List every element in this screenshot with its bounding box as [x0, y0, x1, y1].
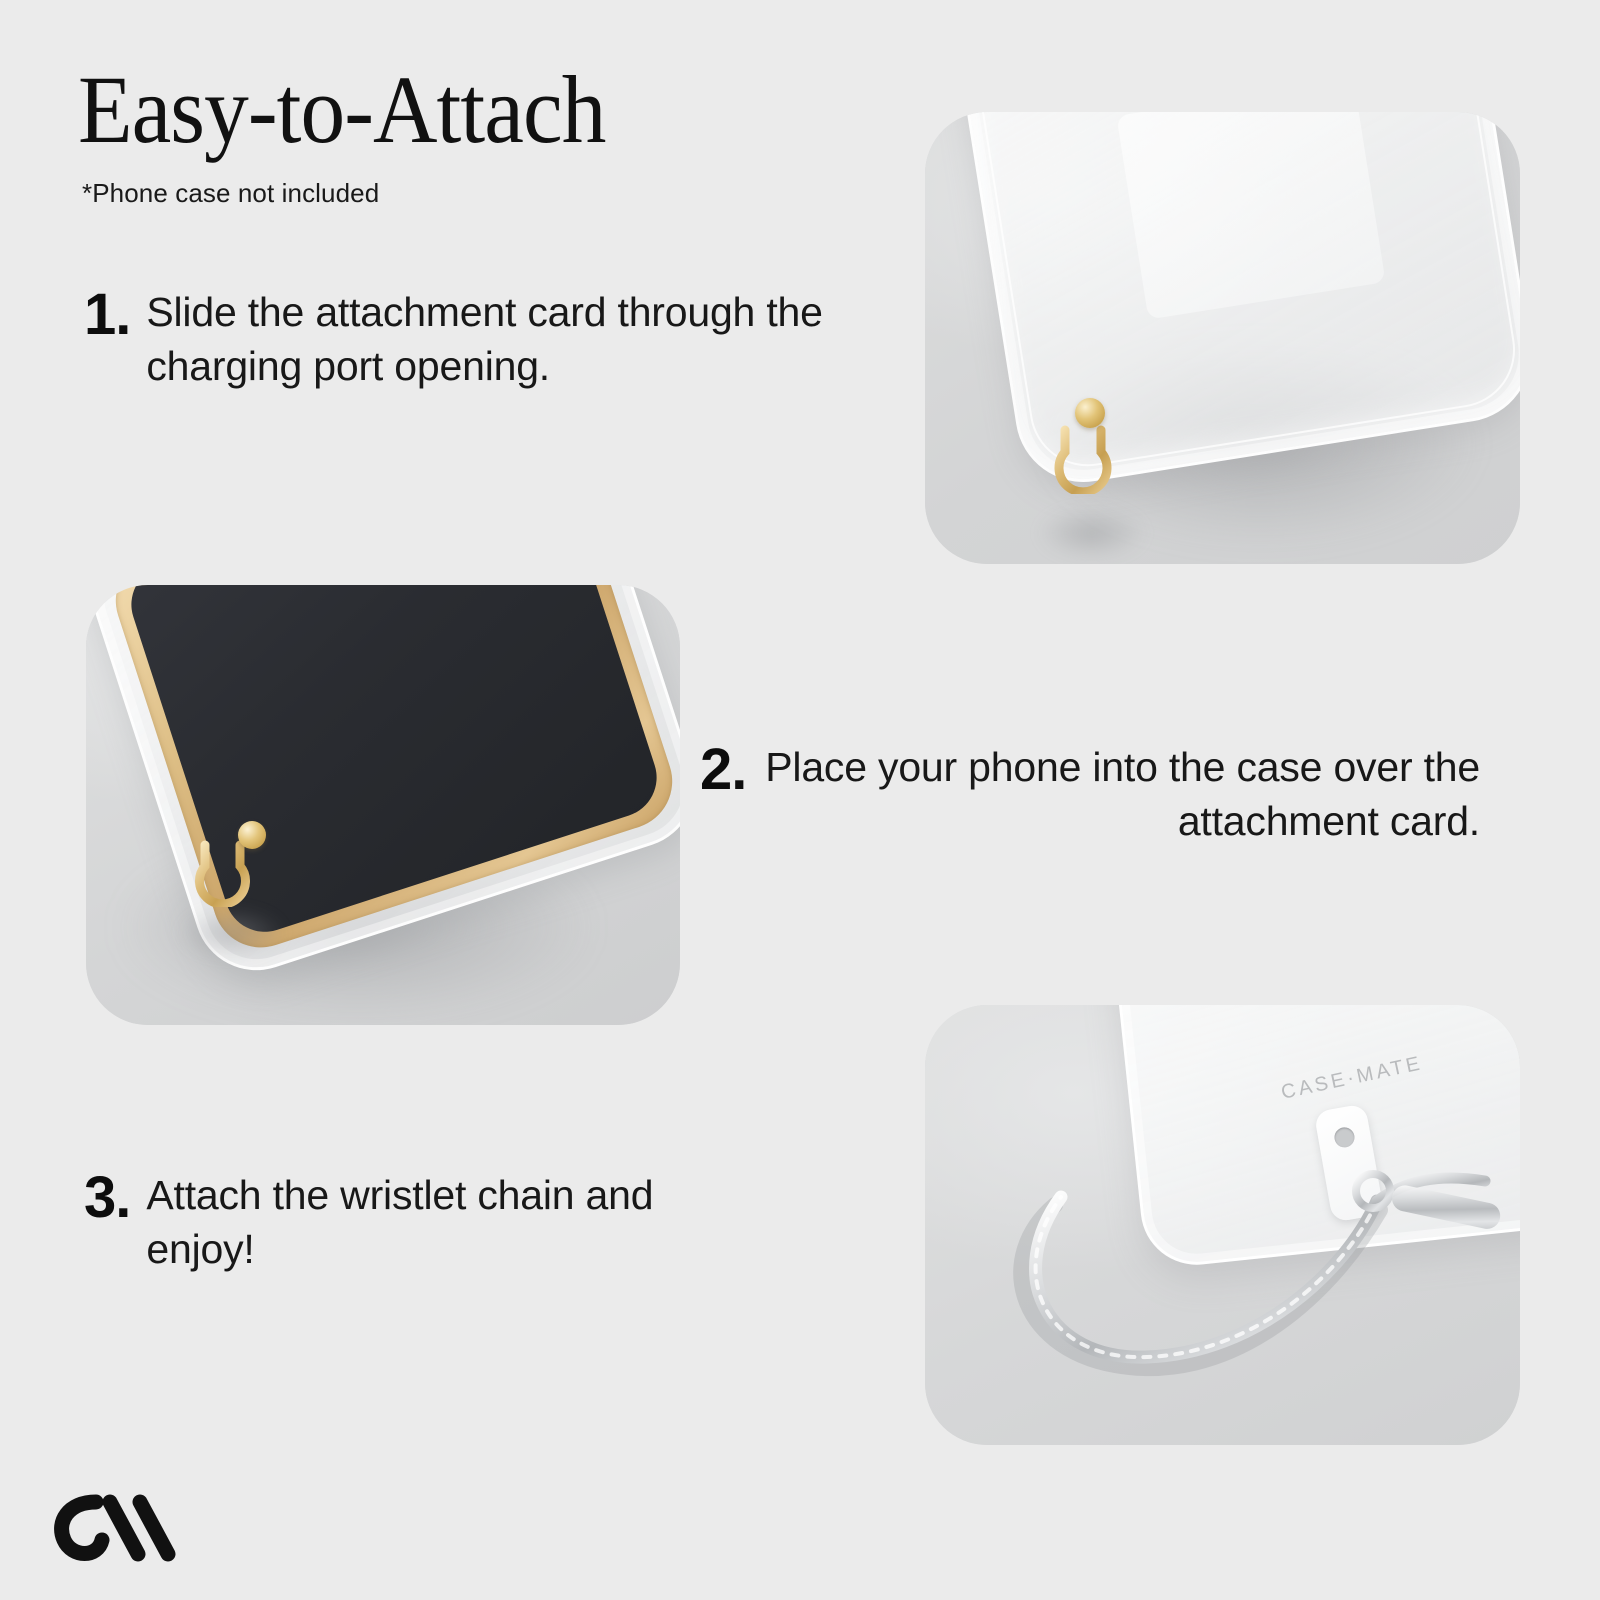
- step-number-3: 3.: [84, 1170, 130, 1225]
- disclaimer-note: *Phone case not included: [82, 178, 379, 209]
- step-text-1: Slide the attachment card through the ch…: [146, 285, 914, 393]
- case-mate-logo: [46, 1468, 186, 1576]
- ring-shadow-2: [178, 907, 286, 959]
- step-text-3: Attach the wristlet chain and enjoy!: [146, 1168, 764, 1276]
- step-text-2: Place your phone into the case over the …: [762, 740, 1480, 848]
- step-item-3: 3. Attach the wristlet chain and enjoy!: [84, 1168, 764, 1276]
- silver-wristlet-chain: [925, 1005, 1520, 1445]
- gold-bead-2: [238, 821, 266, 849]
- step-item-1: 1. Slide the attachment card through the…: [84, 285, 914, 393]
- photo-clear-case-gold-ring: CASE·MATE: [925, 112, 1520, 564]
- page-title: Easy-to-Attach: [78, 62, 605, 158]
- photo-silver-chain: CASE·MATE: [925, 1005, 1520, 1445]
- step-number-2: 2.: [700, 742, 746, 797]
- gold-bead-1: [1075, 398, 1105, 428]
- step-number-1: 1.: [84, 287, 130, 342]
- step-item-2: 2. Place your phone into the case over t…: [700, 740, 1480, 848]
- photo-phone-in-case: [86, 585, 680, 1025]
- gold-d-ring-icon-1: [1043, 422, 1121, 494]
- ring-shadow-1: [1037, 506, 1147, 560]
- infographic-canvas: Easy-to-Attach *Phone case not included …: [0, 0, 1600, 1600]
